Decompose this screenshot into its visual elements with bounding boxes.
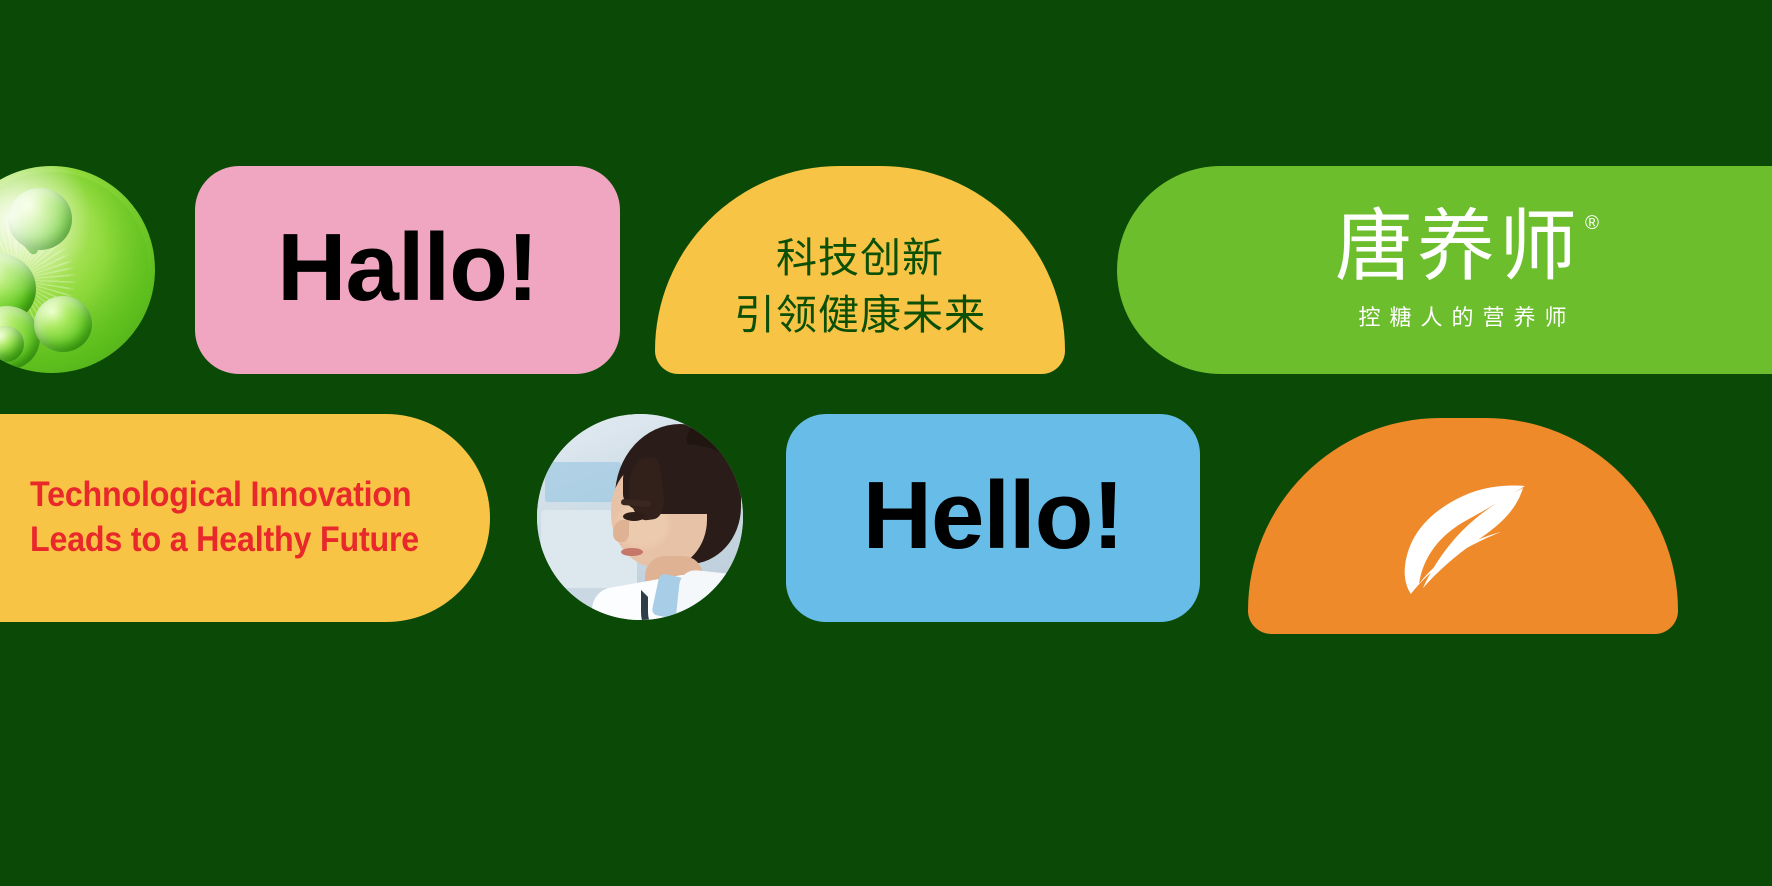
leaf-emblem-card[interactable] (1248, 418, 1678, 634)
greeting-hello-text: Hello! (863, 468, 1124, 564)
leaf-icon (1397, 480, 1529, 598)
brand-logo-card[interactable]: 唐养师 ® 控糖人的营养师 (1117, 166, 1772, 374)
slogan-chinese-line2: 引领健康未来 (734, 287, 986, 344)
greeting-card-hallo[interactable]: Hallo! (195, 166, 620, 374)
slogan-card-english[interactable]: Technological Innovation Leads to a Heal… (0, 414, 490, 622)
brand-wordmark: 唐养师 (1335, 208, 1581, 286)
brand-wordmark-row: 唐养师 ® (1335, 208, 1599, 286)
doctor-photo (537, 414, 743, 620)
doctor-portrait-image: female doctor in white coat with stethos… (537, 414, 743, 620)
greeting-card-hello[interactable]: Hello! (786, 414, 1200, 622)
slogan-english-block: Technological Innovation Leads to a Heal… (30, 473, 419, 563)
slogan-chinese-block: 科技创新 引领健康未来 (734, 230, 986, 343)
slogan-english-line2: Leads to a Healthy Future (30, 518, 419, 563)
slogan-card-chinese[interactable]: 科技创新 引领健康未来 (655, 166, 1065, 374)
registered-trademark-icon: ® (1585, 214, 1599, 233)
brand-tagline: 控糖人的营养师 (1358, 300, 1575, 332)
molecule-image: green molecule bubbles photo (0, 166, 155, 373)
doctor-nose (613, 520, 629, 542)
doctor-lips (621, 548, 643, 556)
banner-canvas: green molecule bubbles photo Hallo! 科技创新… (0, 0, 1772, 886)
molecule-highlight (0, 166, 155, 373)
slogan-english-line1: Technological Innovation (30, 473, 419, 518)
slogan-chinese-line1: 科技创新 (734, 230, 986, 287)
stethoscope-icon (641, 590, 717, 620)
clinic-panel (545, 462, 621, 502)
greeting-hallo-text: Hallo! (277, 220, 538, 316)
